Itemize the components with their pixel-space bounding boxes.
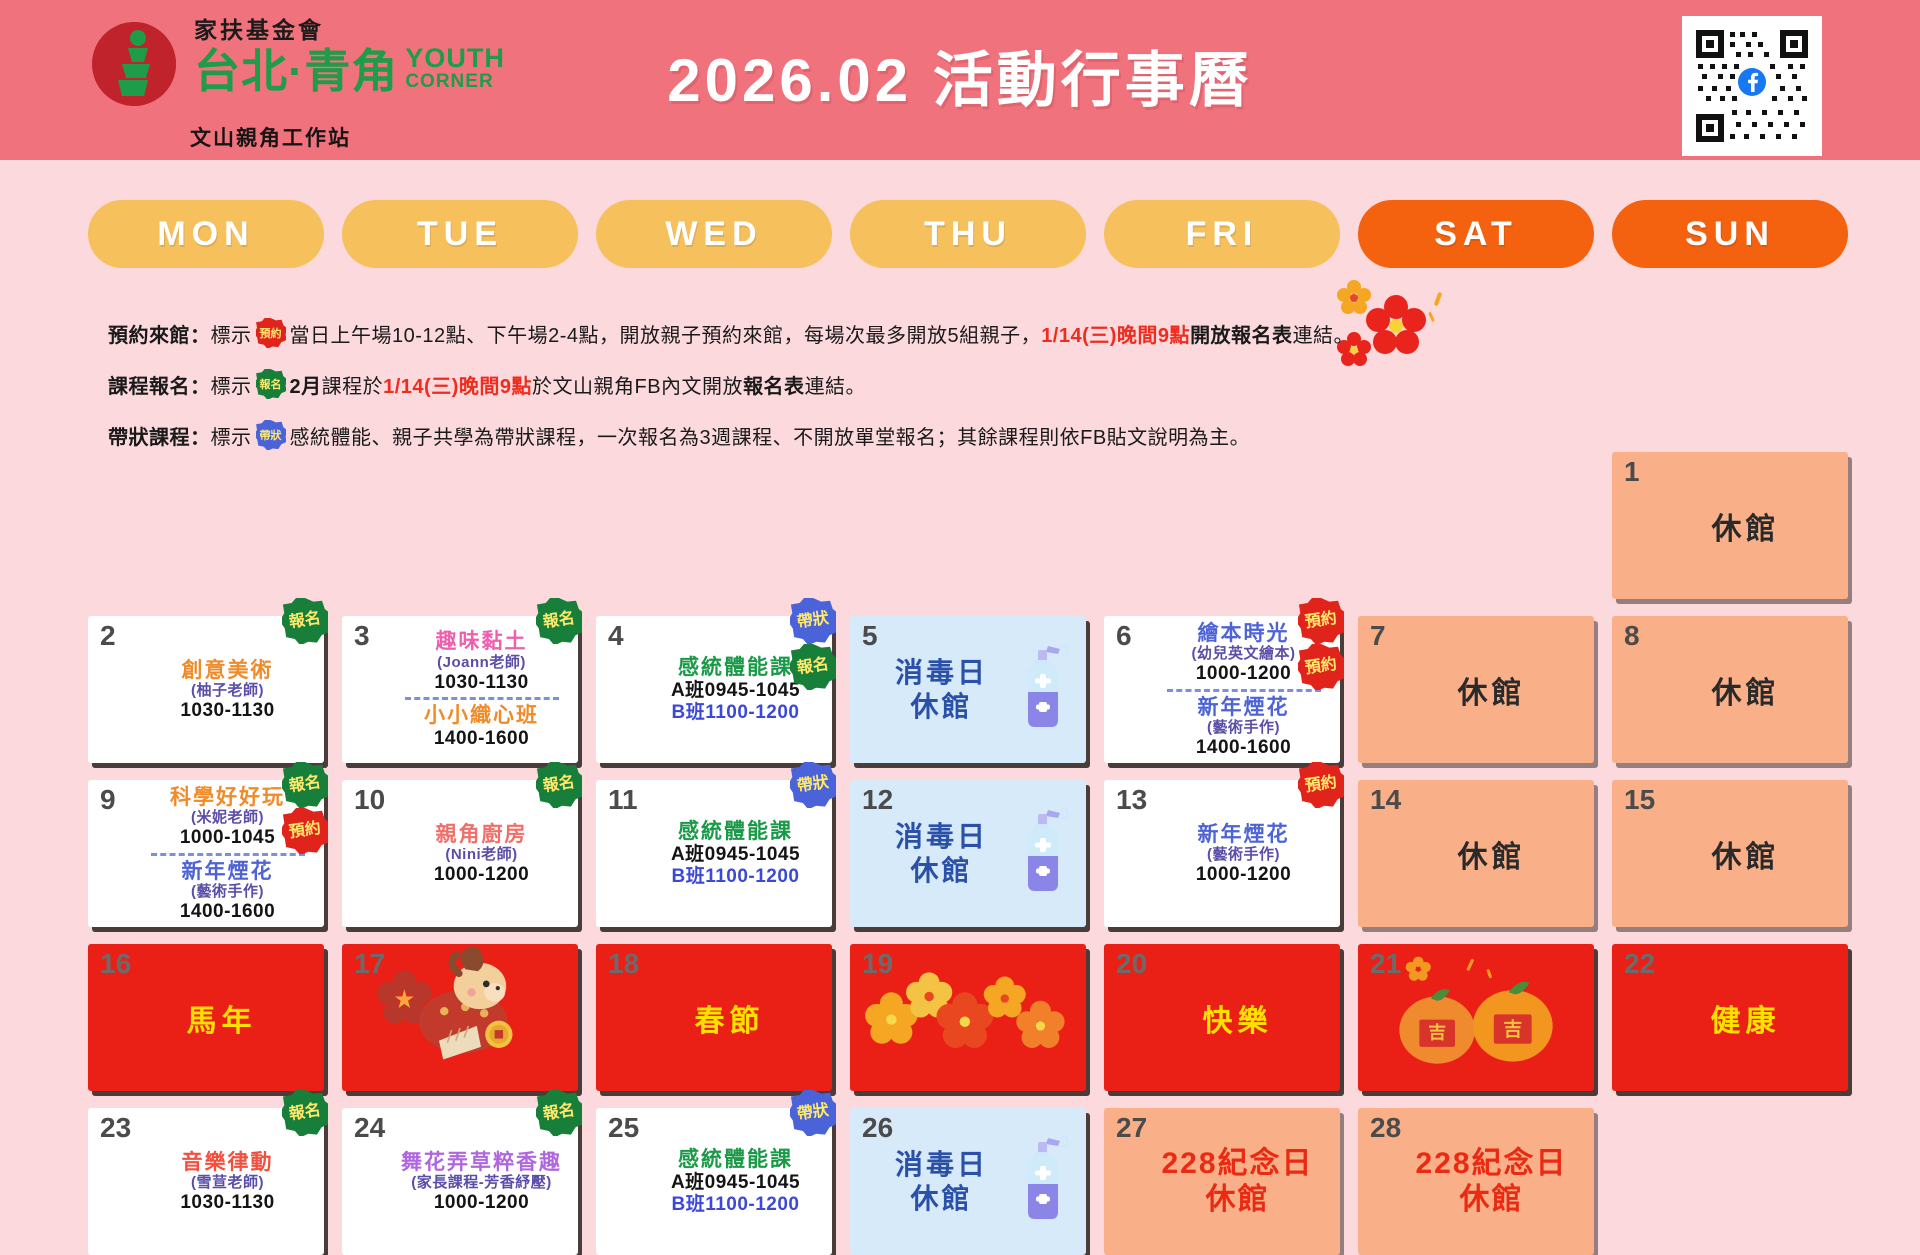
note-signup-mid: 課程於 bbox=[322, 370, 384, 399]
weekday-tue: TUE bbox=[342, 200, 578, 268]
day-cell-body: 228紀念日休館 bbox=[1116, 1115, 1331, 1249]
day-number: 17 bbox=[354, 950, 385, 978]
calendar-day-cell[interactable]: 14休館 bbox=[1358, 780, 1594, 927]
calendar-cell-empty bbox=[1358, 452, 1594, 599]
day-cell-body: 感統體能課A班0945-1045B班1100-1200 bbox=[608, 787, 823, 921]
signup-tag-label: 報名 bbox=[796, 657, 830, 677]
calendar-day-cell[interactable]: 23音樂律動(雪荁老師)1030-1130報名 bbox=[88, 1108, 324, 1255]
calendar-grid: 1休館2創意美術(柚子老師)1030-1130報名3趣味黏土(Joann老師)1… bbox=[88, 452, 1848, 1255]
day-number: 21 bbox=[1370, 950, 1401, 978]
calendar-cell-empty bbox=[850, 452, 1086, 599]
note-reserve-pre: 標示 bbox=[211, 319, 252, 348]
note-reserve-mid: 當日上午場10-12點、下午場2-4點，開放親子預約來館，每場次最多開放5組親子… bbox=[290, 319, 1042, 348]
series-tag-icon[interactable]: 帶狀 bbox=[790, 598, 836, 644]
calendar-day-cell[interactable]: 13新年煙花(藝術手作)1000-1200預約 bbox=[1104, 780, 1340, 927]
disinfect-label: 消毒日休館 bbox=[895, 1148, 988, 1216]
day-number: 4 bbox=[608, 622, 624, 650]
day-number: 7 bbox=[1370, 622, 1386, 650]
course-instructor: (藝術手作) bbox=[1196, 846, 1291, 864]
series-badge-icon: 帶狀 bbox=[256, 420, 286, 450]
disinfect-line-1: 消毒日 bbox=[895, 820, 988, 854]
course-time: 1000-1200 bbox=[401, 1192, 562, 1214]
notes-block: 預約來館： 標示 預約 當日上午場10-12點、下午場2-4點，開放親子預約來館… bbox=[108, 318, 1488, 471]
day-number: 6 bbox=[1116, 622, 1132, 650]
closed-label: 休館 bbox=[1458, 832, 1526, 876]
closed-label: 休館 bbox=[1712, 832, 1780, 876]
course-time: A班0945-1045 bbox=[671, 1172, 800, 1194]
signup-badge-icon: 報名 bbox=[256, 369, 286, 399]
course-event[interactable]: 感統體能課A班0945-1045B班1100-1200 bbox=[671, 819, 800, 889]
calendar-day-cell[interactable]: 19 bbox=[850, 944, 1086, 1091]
note-reserve-tailbold: 開放 bbox=[1190, 319, 1231, 348]
course-event[interactable]: 感統體能課A班0945-1045B班1100-1200 bbox=[671, 655, 800, 725]
day-number: 2 bbox=[100, 622, 116, 650]
course-time: 1000-1200 bbox=[1192, 663, 1296, 685]
signup-tag-label: 報名 bbox=[288, 775, 322, 795]
calendar-day-cell[interactable]: 4感統體能課A班0945-1045B班1100-1200帶狀報名 bbox=[596, 616, 832, 763]
reserve-tag-label: 預約 bbox=[1304, 657, 1338, 677]
course-event[interactable]: 感統體能課A班0945-1045B班1100-1200 bbox=[671, 1147, 800, 1217]
day-number: 3 bbox=[354, 622, 370, 650]
weekday-wed: WED bbox=[596, 200, 832, 268]
disinfect-line-2: 休館 bbox=[895, 1182, 988, 1216]
calendar-day-cell[interactable]: 3趣味黏土(Joann老師)1030-1130小小織心班1400-1600報名 bbox=[342, 616, 578, 763]
day-number: 15 bbox=[1624, 786, 1655, 814]
course-title: 新年煙花 bbox=[1196, 695, 1291, 720]
memorial-day-label: 228紀念日休館 bbox=[1415, 1146, 1567, 1218]
note-series-mid: 感統體能、親子共學為帶狀課程，一次報名為3週課程、不開放單堂報名；其餘課程則依F… bbox=[290, 421, 1251, 450]
day-cell-body: 創意美術(柚子老師)1030-1130 bbox=[100, 623, 315, 757]
course-title: 親角廚房 bbox=[434, 822, 529, 847]
day-cell-body bbox=[862, 951, 1077, 1085]
day-number: 14 bbox=[1370, 786, 1401, 814]
day-cell-body: 繪本時光(幼兒英文繪本)1000-1200新年煙花(藝術手作)1400-1600 bbox=[1116, 623, 1331, 757]
calendar-day-cell[interactable]: 16馬年 bbox=[88, 944, 324, 1091]
disinfect-line-1: 消毒日 bbox=[895, 656, 988, 690]
note-reserve-lead: 預約來館： bbox=[108, 319, 211, 348]
calendar-day-cell[interactable]: 25感統體能課A班0945-1045B班1100-1200帶狀 bbox=[596, 1108, 832, 1255]
course-title: 感統體能課 bbox=[671, 1147, 800, 1172]
calendar-day-cell[interactable]: 20快樂 bbox=[1104, 944, 1340, 1091]
course-title: 音樂律動 bbox=[180, 1150, 274, 1175]
weekday-thu: THU bbox=[850, 200, 1086, 268]
day-cell-body: 科學好好玩(米妮老師)1000-1045新年煙花(藝術手作)1400-1600 bbox=[100, 787, 315, 921]
disinfect-line-2: 休館 bbox=[895, 690, 988, 724]
new-year-greeting: 健康 bbox=[1711, 996, 1781, 1040]
weekday-sat: SAT bbox=[1358, 200, 1594, 268]
calendar-cell-empty bbox=[1612, 1108, 1848, 1255]
note-signup-highlight: 1/14(三)晚間9點 bbox=[383, 370, 532, 399]
calendar-day-cell[interactable]: 11感統體能課A班0945-1045B班1100-1200帶狀 bbox=[596, 780, 832, 927]
course-title: 繪本時光 bbox=[1192, 621, 1296, 646]
note-signup: 課程報名： 標示 報名 2月 課程於 1/14(三)晚間9點 於文山親角FB內文… bbox=[108, 369, 1488, 399]
event-divider bbox=[151, 853, 305, 856]
signup-tag-icon[interactable]: 報名 bbox=[536, 598, 582, 644]
day-number: 5 bbox=[862, 622, 878, 650]
day-number: 24 bbox=[354, 1114, 385, 1142]
course-event[interactable]: 創意美術(柚子老師)1030-1130 bbox=[180, 658, 274, 723]
reserve-tag-label: 預約 bbox=[288, 821, 322, 841]
calendar-day-cell[interactable]: 15休館 bbox=[1612, 780, 1848, 927]
day-number: 23 bbox=[100, 1114, 131, 1142]
series-tag-label: 帶狀 bbox=[796, 775, 830, 795]
day-cell-body: 音樂律動(雪荁老師)1030-1130 bbox=[100, 1115, 315, 1249]
weekday-fri: FRI bbox=[1104, 200, 1340, 268]
course-event[interactable]: 新年煙花(藝術手作)1000-1200 bbox=[1196, 822, 1291, 887]
signup-tag-label: 報名 bbox=[288, 611, 322, 631]
course-time: 1030-1130 bbox=[180, 700, 274, 722]
note-signup-pre: 標示 bbox=[211, 370, 252, 399]
memorial-line-1: 228紀念日 bbox=[1161, 1146, 1313, 1182]
calendar-cell-empty bbox=[1104, 452, 1340, 599]
calendar-cell-empty bbox=[88, 452, 324, 599]
note-reserve-tail: 連結。 bbox=[1293, 319, 1355, 348]
day-cell-body bbox=[1370, 951, 1585, 1085]
course-instructor: (藝術手作) bbox=[180, 883, 275, 901]
course-instructor: (柚子老師) bbox=[180, 682, 274, 700]
course-time: 1030-1130 bbox=[434, 672, 528, 694]
day-number: 19 bbox=[862, 950, 893, 978]
signup-tag-icon[interactable]: 報名 bbox=[282, 1090, 328, 1136]
course-time: A班0945-1045 bbox=[671, 844, 800, 866]
page-title: 2026.02 活動行事曆 bbox=[0, 32, 1920, 119]
course-title: 新年煙花 bbox=[1196, 822, 1291, 847]
note-signup-lead: 課程報名： bbox=[108, 370, 211, 399]
note-signup-tail: 連結。 bbox=[805, 370, 867, 399]
calendar-day-cell[interactable]: 1休館 bbox=[1612, 452, 1848, 599]
day-number: 12 bbox=[862, 786, 893, 814]
new-year-greeting: 春節 bbox=[695, 996, 765, 1040]
reserve-tag-label: 預約 bbox=[1304, 775, 1338, 795]
calendar-day-cell[interactable]: 6繪本時光(幼兒英文繪本)1000-1200新年煙花(藝術手作)1400-160… bbox=[1104, 616, 1340, 763]
note-reserve-tailhl: 報名表 bbox=[1231, 319, 1293, 348]
closed-label: 休館 bbox=[1458, 668, 1526, 712]
closed-label: 休館 bbox=[1712, 668, 1780, 712]
reserve-tag-icon[interactable]: 預約 bbox=[1298, 644, 1344, 690]
day-cell-body: 休館 bbox=[1624, 459, 1839, 593]
signup-tag-label: 報名 bbox=[542, 1103, 576, 1123]
day-number: 8 bbox=[1624, 622, 1640, 650]
day-cell-body: 感統體能課A班0945-1045B班1100-1200 bbox=[608, 623, 823, 757]
course-title: 科學好好玩 bbox=[170, 785, 285, 810]
reserve-tag-icon[interactable]: 預約 bbox=[1298, 762, 1344, 808]
signup-tag-icon[interactable]: 報名 bbox=[790, 644, 836, 690]
day-number: 1 bbox=[1624, 458, 1640, 486]
note-signup-midbold: 2月 bbox=[290, 370, 322, 399]
event-divider bbox=[1167, 689, 1321, 692]
signup-tag-icon[interactable]: 報名 bbox=[536, 762, 582, 808]
note-reserve: 預約來館： 標示 預約 當日上午場10-12點、下午場2-4點，開放親子預約來館… bbox=[108, 318, 1488, 348]
note-series: 帶狀課程： 標示 帶狀 感統體能、親子共學為帶狀課程，一次報名為3週課程、不開放… bbox=[108, 420, 1488, 450]
day-cell-body: 228紀念日休館 bbox=[1370, 1115, 1585, 1249]
note-signup-tailbold: 於文山親角FB內文開放 bbox=[532, 370, 743, 399]
calendar-cell-empty bbox=[342, 452, 578, 599]
day-number: 26 bbox=[862, 1114, 893, 1142]
calendar-day-cell[interactable]: 7休館 bbox=[1358, 616, 1594, 763]
course-title: 感統體能課 bbox=[671, 819, 800, 844]
day-number: 10 bbox=[354, 786, 385, 814]
course-time: 1030-1130 bbox=[180, 1192, 274, 1214]
calendar-day-cell[interactable]: 2創意美術(柚子老師)1030-1130報名 bbox=[88, 616, 324, 763]
course-time: 1000-1200 bbox=[434, 864, 529, 886]
calendar-day-cell[interactable]: 18春節 bbox=[596, 944, 832, 1091]
calendar-day-cell[interactable]: 12 消毒日休館 bbox=[850, 780, 1086, 927]
day-number: 22 bbox=[1624, 950, 1655, 978]
calendar-day-cell[interactable]: 8休館 bbox=[1612, 616, 1848, 763]
day-number: 28 bbox=[1370, 1114, 1401, 1142]
signup-tag-label: 報名 bbox=[542, 775, 576, 795]
calendar-cell-empty bbox=[596, 452, 832, 599]
calendar-day-cell[interactable]: 27228紀念日休館 bbox=[1104, 1108, 1340, 1255]
course-time: 1000-1200 bbox=[1196, 864, 1291, 886]
event-divider bbox=[405, 697, 559, 700]
course-time: 1400-1600 bbox=[424, 728, 539, 750]
course-event[interactable]: 舞花弄草粹香趣(家長課程-芳香紓壓)1000-1200 bbox=[401, 1150, 562, 1215]
signup-tag-label: 報名 bbox=[542, 611, 576, 631]
course-instructor: (Nini老師) bbox=[434, 846, 529, 864]
series-tag-label: 帶狀 bbox=[796, 1103, 830, 1123]
course-event[interactable]: 繪本時光(幼兒英文繪本)1000-1200 bbox=[1192, 621, 1296, 686]
facebook-qr-icon bbox=[1692, 26, 1812, 146]
day-cell-body: 春節 bbox=[608, 951, 823, 1085]
reserve-badge-icon: 預約 bbox=[256, 318, 286, 348]
day-cell-body: 健康 bbox=[1624, 951, 1839, 1085]
day-cell-body: 馬年 bbox=[100, 951, 315, 1085]
memorial-line-2: 休館 bbox=[1161, 1182, 1313, 1218]
day-cell-body: 舞花弄草粹香趣(家長課程-芳香紓壓)1000-1200 bbox=[354, 1115, 569, 1249]
series-tag-label: 帶狀 bbox=[796, 611, 830, 631]
calendar-day-cell[interactable]: 吉 吉 21 bbox=[1358, 944, 1594, 1091]
day-cell-body: 休館 bbox=[1370, 623, 1585, 757]
station-name: 文山親角工作站 bbox=[190, 122, 351, 152]
day-number: 16 bbox=[100, 950, 131, 978]
note-series-lead: 帶狀課程： bbox=[108, 421, 211, 450]
calendar-day-cell[interactable]: 5 消毒日休館 bbox=[850, 616, 1086, 763]
spray-bottle-icon bbox=[1018, 806, 1068, 894]
day-number: 27 bbox=[1116, 1114, 1147, 1142]
spray-bottle-icon bbox=[1018, 642, 1068, 730]
course-time: A班0945-1045 bbox=[671, 680, 800, 702]
disinfect-label: 消毒日休館 bbox=[895, 820, 988, 888]
course-title: 創意美術 bbox=[180, 658, 274, 683]
series-tag-icon[interactable]: 帶狀 bbox=[790, 1090, 836, 1136]
day-number: 9 bbox=[100, 786, 116, 814]
reserve-tag-label: 預約 bbox=[1304, 611, 1338, 631]
course-instructor: (幼兒英文繪本) bbox=[1192, 645, 1296, 663]
course-event[interactable]: 科學好好玩(米妮老師)1000-1045 bbox=[170, 785, 285, 850]
course-event[interactable]: 音樂律動(雪荁老師)1030-1130 bbox=[180, 1150, 274, 1215]
day-number: 18 bbox=[608, 950, 639, 978]
memorial-line-2: 休館 bbox=[1415, 1182, 1567, 1218]
course-title: 趣味黏土 bbox=[434, 629, 528, 654]
note-signup-tailhl: 報名表 bbox=[743, 370, 805, 399]
day-cell-body: 感統體能課A班0945-1045B班1100-1200 bbox=[608, 1115, 823, 1249]
day-number: 20 bbox=[1116, 950, 1147, 978]
series-tag-icon[interactable]: 帶狀 bbox=[790, 762, 836, 808]
course-time-secondary: B班1100-1200 bbox=[671, 702, 800, 724]
memorial-line-1: 228紀念日 bbox=[1415, 1146, 1567, 1182]
course-time: 1400-1600 bbox=[180, 901, 275, 923]
course-instructor: (藝術手作) bbox=[1196, 719, 1291, 737]
day-number: 11 bbox=[608, 786, 638, 814]
signup-tag-icon[interactable]: 報名 bbox=[282, 598, 328, 644]
course-event[interactable]: 小小織心班1400-1600 bbox=[424, 703, 539, 750]
course-time: 1000-1045 bbox=[170, 827, 285, 849]
course-title: 小小織心班 bbox=[424, 703, 539, 728]
closed-label: 休館 bbox=[1712, 504, 1780, 548]
course-title: 新年煙花 bbox=[180, 859, 275, 884]
weekday-sun: SUN bbox=[1612, 200, 1848, 268]
course-title: 舞花弄草粹香趣 bbox=[401, 1150, 562, 1175]
disinfect-line-1: 消毒日 bbox=[895, 1148, 988, 1182]
course-event[interactable]: 新年煙花(藝術手作)1400-1600 bbox=[1196, 695, 1291, 760]
page-header: 家扶基金會 台北·青角 YOUTH CORNER 文山親角工作站 2026.02… bbox=[0, 0, 1920, 160]
disinfect-label: 消毒日休館 bbox=[895, 656, 988, 724]
calendar-day-cell[interactable]: 26 消毒日休館 bbox=[850, 1108, 1086, 1255]
course-instructor: (雪荁老師) bbox=[180, 1174, 274, 1192]
day-cell-body: 休館 bbox=[1624, 623, 1839, 757]
day-cell-body: 新年煙花(藝術手作)1000-1200 bbox=[1116, 787, 1331, 921]
course-instructor: (家長課程-芳香紓壓) bbox=[401, 1174, 562, 1192]
day-cell-body: 親角廚房(Nini老師)1000-1200 bbox=[354, 787, 569, 921]
day-cell-body: 快樂 bbox=[1116, 951, 1331, 1085]
spray-bottle-icon bbox=[1018, 1134, 1068, 1222]
note-reserve-highlight: 1/14(三)晚間9點 bbox=[1041, 319, 1190, 348]
calendar-day-cell[interactable]: 10親角廚房(Nini老師)1000-1200報名 bbox=[342, 780, 578, 927]
course-event[interactable]: 親角廚房(Nini老師)1000-1200 bbox=[434, 822, 529, 887]
disinfect-line-2: 休館 bbox=[895, 854, 988, 888]
day-number: 13 bbox=[1116, 786, 1147, 814]
reserve-tag-icon[interactable]: 預約 bbox=[282, 808, 328, 854]
course-time-secondary: B班1100-1200 bbox=[671, 866, 800, 888]
new-year-greeting: 馬年 bbox=[187, 996, 257, 1040]
course-instructor: (米妮老師) bbox=[170, 809, 285, 827]
signup-tag-icon[interactable]: 報名 bbox=[282, 762, 328, 808]
course-title: 感統體能課 bbox=[671, 655, 800, 680]
calendar-day-cell[interactable]: 28228紀念日休館 bbox=[1358, 1108, 1594, 1255]
reserve-tag-icon[interactable]: 預約 bbox=[1298, 598, 1344, 644]
memorial-day-label: 228紀念日休館 bbox=[1161, 1146, 1313, 1218]
day-cell-body: 趣味黏土(Joann老師)1030-1130小小織心班1400-1600 bbox=[354, 623, 569, 757]
qr-code[interactable] bbox=[1682, 16, 1822, 156]
note-series-pre: 標示 bbox=[211, 421, 252, 450]
new-year-greeting: 快樂 bbox=[1203, 996, 1273, 1040]
signup-tag-icon[interactable]: 報名 bbox=[536, 1090, 582, 1136]
day-cell-body: 休館 bbox=[1624, 787, 1839, 921]
course-time: 1400-1600 bbox=[1196, 737, 1291, 759]
day-cell-body bbox=[354, 951, 569, 1085]
day-cell-body: 休館 bbox=[1370, 787, 1585, 921]
day-number: 25 bbox=[608, 1114, 639, 1142]
course-time-secondary: B班1100-1200 bbox=[671, 1194, 800, 1216]
calendar-day-cell[interactable]: 22健康 bbox=[1612, 944, 1848, 1091]
course-event[interactable]: 新年煙花(藝術手作)1400-1600 bbox=[180, 859, 275, 924]
weekday-mon: MON bbox=[88, 200, 324, 268]
calendar-day-cell[interactable]: 9科學好好玩(米妮老師)1000-1045新年煙花(藝術手作)1400-1600… bbox=[88, 780, 324, 927]
course-event[interactable]: 趣味黏土(Joann老師)1030-1130 bbox=[434, 629, 528, 694]
signup-tag-label: 報名 bbox=[288, 1103, 322, 1123]
course-instructor: (Joann老師) bbox=[434, 654, 528, 672]
weekday-header-row: MON TUE WED THU FRI SAT SUN bbox=[88, 200, 1848, 268]
calendar-day-cell[interactable]: 17 bbox=[342, 944, 578, 1091]
calendar-day-cell[interactable]: 24舞花弄草粹香趣(家長課程-芳香紓壓)1000-1200報名 bbox=[342, 1108, 578, 1255]
